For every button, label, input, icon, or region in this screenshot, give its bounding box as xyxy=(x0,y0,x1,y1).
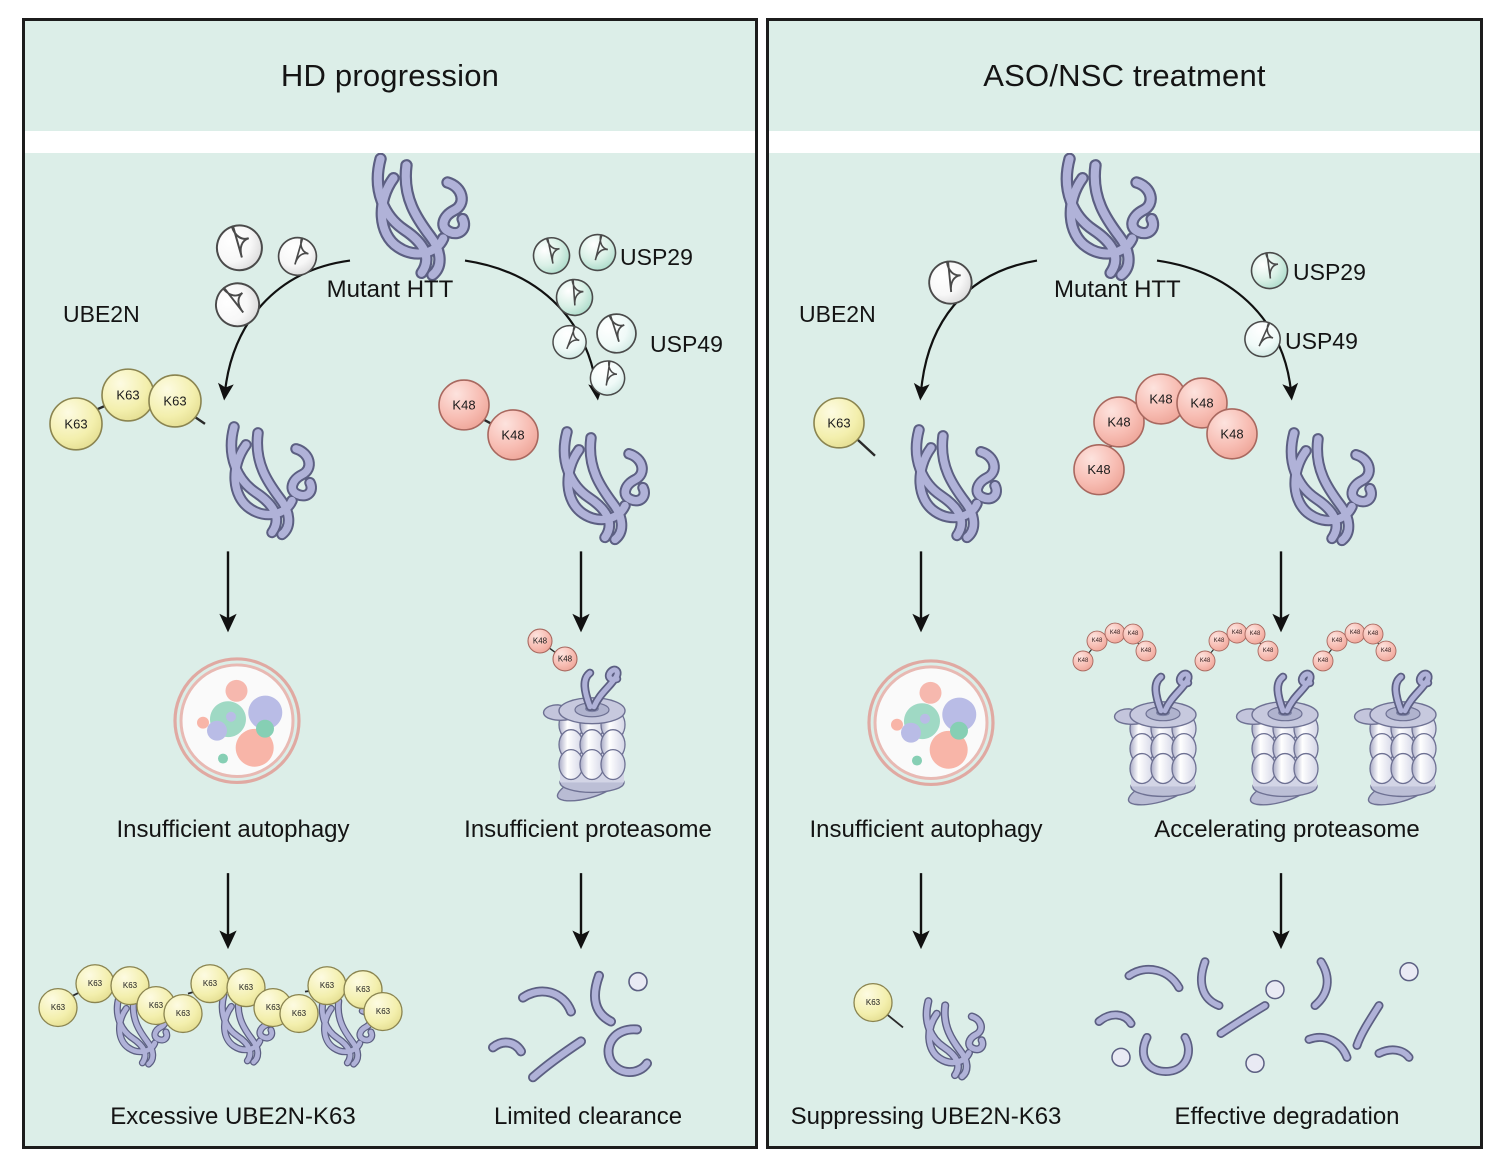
label-mutant-htt-right: Mutant HTT xyxy=(1054,276,1181,304)
svg-text:K48: K48 xyxy=(501,427,524,442)
autophagosome-left xyxy=(175,659,299,783)
panel-hd-progression: HD progression xyxy=(22,18,758,1149)
panel-header-left: HD progression xyxy=(25,21,755,131)
htt-aggregates-left: K63K63 K63K63 K63K63 K63K63 K63K63 K63K6… xyxy=(39,965,402,1064)
enzyme-usp49-group-right xyxy=(1240,316,1286,362)
svg-text:K48: K48 xyxy=(1149,392,1172,407)
label-outcome-proteasome-right: Accelerating proteasome xyxy=(1154,816,1419,844)
svg-text:K63: K63 xyxy=(866,998,881,1007)
label-usp49-left: USP49 xyxy=(650,331,723,358)
svg-text:K48: K48 xyxy=(1263,648,1274,654)
htt-k48-right xyxy=(1291,433,1371,541)
svg-text:K48: K48 xyxy=(533,637,548,646)
panel-header-right: ASO/NSC treatment xyxy=(769,21,1480,131)
svg-text:K48: K48 xyxy=(452,398,475,413)
peptide-fragments-right xyxy=(1099,962,1409,1072)
k48-chain-right: K48 K48 K48 K48 K48 xyxy=(1074,374,1257,495)
panel-divider-left xyxy=(25,131,755,153)
svg-text:K48: K48 xyxy=(1368,631,1379,637)
svg-text:K63: K63 xyxy=(239,983,254,992)
enzyme-usp29-group-right xyxy=(1249,250,1291,292)
label-usp49-right: USP49 xyxy=(1285,328,1358,355)
svg-text:K48: K48 xyxy=(1092,638,1103,644)
k63-chain-right: K63 xyxy=(814,398,875,456)
svg-text:K48: K48 xyxy=(1381,648,1392,654)
svg-text:K63: K63 xyxy=(827,415,850,430)
svg-text:K63: K63 xyxy=(116,388,139,403)
label-ube2n-right: UBE2N xyxy=(799,301,876,328)
svg-text:K63: K63 xyxy=(320,981,335,990)
panel-body-left: K63 K63 K63 K48 K48 xyxy=(25,153,755,1146)
label-result-autophagy-left: Excessive UBE2N-K63 xyxy=(110,1103,355,1131)
label-usp29-left: USP29 xyxy=(620,244,693,271)
svg-text:K63: K63 xyxy=(123,981,138,990)
pathway-figure: HD progression xyxy=(0,0,1505,1167)
enzyme-ube2n-group xyxy=(207,220,320,336)
peptide-fragments-left xyxy=(493,976,647,1078)
svg-text:K48: K48 xyxy=(1250,631,1261,637)
peptide-dot xyxy=(629,973,647,991)
htt-k63-left xyxy=(231,427,311,535)
panel-divider-right xyxy=(769,131,1480,153)
svg-text:K48: K48 xyxy=(1350,630,1361,636)
peptide-dots-right xyxy=(1112,963,1418,1073)
k48-chain-left: K48 K48 xyxy=(439,380,538,460)
svg-text:K63: K63 xyxy=(88,979,103,988)
svg-text:K63: K63 xyxy=(376,1007,391,1016)
label-outcome-autophagy-right: Insufficient autophagy xyxy=(809,816,1042,844)
panel-title-right: ASO/NSC treatment xyxy=(983,58,1266,94)
svg-text:K48: K48 xyxy=(1128,631,1139,637)
panel-title-left: HD progression xyxy=(281,58,499,94)
svg-text:K48: K48 xyxy=(1078,658,1089,664)
mutant-htt-source-right xyxy=(1067,159,1153,275)
svg-text:K63: K63 xyxy=(203,979,218,988)
svg-text:K48: K48 xyxy=(1110,630,1121,636)
svg-text:K63: K63 xyxy=(356,985,371,994)
branch-arrow-autophagy-right xyxy=(921,261,1037,392)
svg-text:K48: K48 xyxy=(1332,638,1343,644)
svg-text:K48: K48 xyxy=(1220,426,1243,441)
svg-text:K48: K48 xyxy=(1087,462,1110,477)
svg-text:K63: K63 xyxy=(64,416,87,431)
peptide-fragments-left-inner xyxy=(493,976,647,1078)
label-ube2n-left: UBE2N xyxy=(63,301,140,328)
svg-text:K48: K48 xyxy=(1214,638,1225,644)
svg-text:K63: K63 xyxy=(292,1009,307,1018)
svg-text:K48: K48 xyxy=(1141,648,1152,654)
label-outcome-autophagy-left: Insufficient autophagy xyxy=(116,816,349,844)
panel-aso-nsc-treatment: ASO/NSC treatment xyxy=(766,18,1483,1149)
svg-text:K48: K48 xyxy=(1318,658,1329,664)
htt-suppressed-right: K63 xyxy=(854,984,982,1077)
svg-text:K63: K63 xyxy=(163,394,186,409)
branch-arrow-proteasome xyxy=(465,261,597,392)
svg-text:K48: K48 xyxy=(558,654,573,663)
svg-text:K48: K48 xyxy=(1232,630,1243,636)
enzyme-usp29-group xyxy=(530,231,619,317)
label-result-proteasome-left: Limited clearance xyxy=(494,1103,682,1131)
peptide-fragments-right-inner xyxy=(1099,962,1409,1072)
htt-k63-right xyxy=(916,430,996,538)
label-result-autophagy-right: Suppressing UBE2N-K63 xyxy=(791,1103,1062,1131)
svg-text:K48: K48 xyxy=(1190,396,1213,411)
svg-text:K63: K63 xyxy=(266,1003,281,1012)
svg-text:K63: K63 xyxy=(51,1003,66,1012)
enzyme-usp49-group xyxy=(549,309,642,397)
label-usp29-right: USP29 xyxy=(1293,259,1366,286)
svg-text:K63: K63 xyxy=(176,1009,191,1018)
panel-body-right: K63 xyxy=(769,153,1480,1146)
autophagosome-right xyxy=(869,661,993,785)
enzyme-ube2n-group-right xyxy=(926,259,974,307)
label-result-proteasome-right: Effective degradation xyxy=(1174,1103,1399,1131)
label-mutant-htt-left: Mutant HTT xyxy=(327,276,454,304)
label-outcome-proteasome-left: Insufficient proteasome xyxy=(464,816,712,844)
mutant-htt-source xyxy=(378,159,464,275)
svg-text:K48: K48 xyxy=(1107,414,1130,429)
proteasome-left: K48 K48 xyxy=(528,629,625,801)
proteasome-group-right: K48K48 K48K48 K48 xyxy=(1073,623,1436,805)
htt-k48-left xyxy=(564,432,644,540)
k63-chain-left: K63 K63 K63 xyxy=(50,369,205,450)
svg-text:K63: K63 xyxy=(149,1001,164,1010)
svg-text:K48: K48 xyxy=(1200,658,1211,664)
